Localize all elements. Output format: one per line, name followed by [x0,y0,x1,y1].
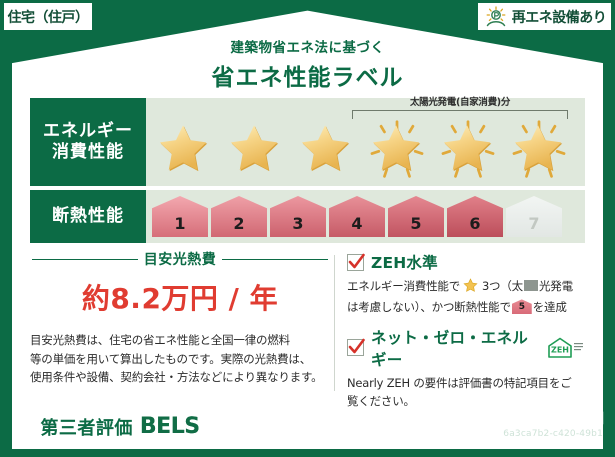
zeh-standard-block: ZEH水準 エネルギー消費性能で 3つ（太光発電 は考慮しない）、かつ断熱性能で… [347,251,585,317]
zeh-house-logo: ZEH [545,336,585,360]
net-zero-checkbox[interactable] [347,339,364,356]
star-icon-solar [362,116,432,182]
insulation-level-5: 5 [388,196,444,237]
zeh-standard-checkbox[interactable] [347,254,364,271]
star-icon [149,116,219,182]
building-type-badge: 住宅（住戸） [4,3,92,30]
bels-badge: 第三者評価 BELS [18,411,222,442]
cost-note-line2: 等の単価を用いて算出したものです。実際の光熱費は、 [30,350,330,369]
net-zero-header: ネット・ゼロ・エネルギー ZEH [347,326,585,370]
insulation-level-4: 4 [329,196,385,237]
insulation-level-1: 1 [152,196,208,237]
insulation-level-7: 7 [506,196,562,237]
utility-cost-note: 目安光熱費は、住宅の省エネ性能と全国一律の燃料 等の単価を用いて算出したものです… [30,331,330,387]
bels-jp-label: 第三者評価 [40,414,133,440]
insulation-level-6: 6 [447,196,503,237]
insulation-performance-row: 断熱性能 1 2 3 4 5 6 7 [30,190,585,243]
inline-house-number: 5 [512,300,532,314]
insulation-level-list: 1 2 3 4 5 6 7 [146,196,562,237]
insulation-performance-label: 断熱性能 [30,190,146,243]
renewable-energy-badge: 再エネ設備あり [478,3,611,30]
zeh-section: ZEH水準 エネルギー消費性能で 3つ（太光発電 は考慮しない）、かつ断熱性能で… [347,249,585,397]
star-icon [220,116,290,182]
utility-cost-heading: 目安光熱費 [30,249,330,269]
heading-rule-right [222,259,328,260]
star-rating [146,116,574,182]
energy-label-line1: エネルギー [43,121,133,142]
bottom-section: 目安光熱費 約8.2万円 / 年 目安光熱費は、住宅の省エネ性能と全国一律の燃料… [30,249,585,397]
bels-en-label: BELS [140,414,200,439]
title-subtitle: 建築物省エネ法に基づく [0,36,615,56]
heading-rule-left [32,259,138,260]
star-icon-solar [433,116,503,182]
zeh-standard-text-c: 光発電 [539,279,573,293]
zeh-standard-header: ZEH水準 [347,251,585,273]
zeh-standard-text-b: 3つ（太 [482,279,523,293]
title-main: 省エネ性能ラベル [0,58,615,92]
zeh-standard-text-a: エネルギー消費性能で [347,279,460,293]
utility-cost-value: 約8.2万円 / 年 [30,277,330,317]
insulation-rating-area: 1 2 3 4 5 6 7 [146,190,585,243]
zeh-standard-body: エネルギー消費性能で 3つ（太光発電 は考慮しない）、かつ断熱性能で 5 を達成 [347,277,585,317]
evaluation-date: 評価日 2024年12月12日 [443,408,605,428]
utility-cost-heading-text: 目安光熱費 [144,249,217,269]
svg-text:ZEH: ZEH [551,345,569,354]
zeh-standard-title: ZEH水準 [371,251,438,273]
utility-cost-section: 目安光熱費 約8.2万円 / 年 目安光熱費は、住宅の省エネ性能と全国一律の燃料… [30,249,330,397]
inline-star-icon [460,282,482,296]
building-type-label: 住宅（住戸） [8,7,89,27]
energy-label-line2: 消費性能 [52,142,124,163]
cost-note-line3: 使用条件や設備、契約会社・方法などにより異なります。 [30,368,330,387]
cost-note-line1: 目安光熱費は、住宅の省エネ性能と全国一律の燃料 [30,331,330,350]
footer: 第三者評価 BELS ①足立区西綾瀬３丁目プロジェクト新築工事 101号室 評価… [0,403,615,457]
net-zero-title: ネット・ゼロ・エネルギー [371,326,538,370]
insulation-house-number: 3 [270,214,326,233]
renewable-energy-label: 再エネ設備あり [512,7,607,27]
insulation-house-number: 4 [329,214,385,233]
sun-renewable-icon [485,6,509,28]
solar-annotation-text: 太陽光発電(自家消費)分 [350,94,570,108]
performance-panel: エネルギー 消費性能 太陽光発電(自家消費)分 [30,98,585,243]
star-icon [291,116,361,182]
energy-performance-label: 住宅（住戸） 再エネ設備あり 建築物省エネ法に基づく [0,0,615,457]
insulation-house-number: 7 [506,214,562,233]
energy-performance-label: エネルギー 消費性能 [30,98,146,186]
insulation-label-text: 断熱性能 [52,206,124,227]
insulation-level-2: 2 [211,196,267,237]
star-icon-solar [504,116,574,182]
insulation-level-3: 3 [270,196,326,237]
insulation-house-number: 6 [447,214,503,233]
net-zero-energy-block: ネット・ゼロ・エネルギー ZEH [347,326,585,411]
energy-rating-area: 太陽光発電(自家消費)分 [146,98,585,186]
insulation-house-number: 5 [388,214,444,233]
page-title: 建築物省エネ法に基づく 省エネ性能ラベル [0,36,615,92]
document-id: 6a3ca7b2-c420-49b1 [503,429,603,439]
zeh-standard-text-e: を達成 [533,300,567,314]
insulation-house-number: 1 [152,214,208,233]
section-divider [334,255,335,391]
redaction-mark [524,280,538,291]
inline-insulation-level-badge: 5 [512,299,532,314]
zeh-standard-text-d: は考慮しない）、かつ断熱性能で [347,300,511,314]
energy-performance-row: エネルギー 消費性能 太陽光発電(自家消費)分 [30,98,585,186]
net-zero-line1: Nearly ZEH の要件は評価書の特記項目をご [347,374,585,392]
insulation-house-number: 2 [211,214,267,233]
